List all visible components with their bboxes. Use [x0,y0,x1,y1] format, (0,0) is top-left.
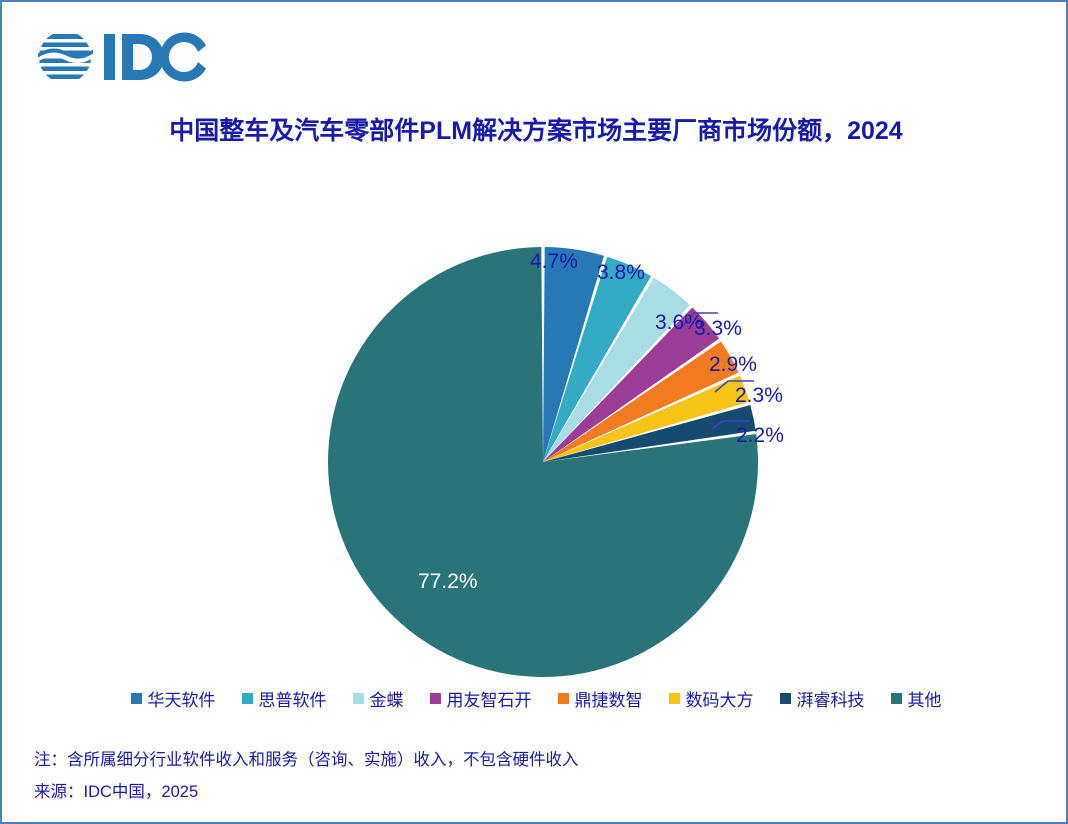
idc-wordmark [104,33,206,82]
legend-item[interactable]: 数码大方 [669,686,754,711]
legend-item-label: 华天软件 [148,686,216,711]
legend-item-label: 数码大方 [686,686,754,711]
chart-legend: 华天软件思普软件金蝶用友智石开鼎捷数智数码大方湃睿科技其他 [2,686,1068,711]
pie-slice-value-label: 2.2% [736,424,784,448]
footnote-note: 注：含所属细分行业软件收入和服务（咨询、实施）收入，不包含硬件收入 [34,744,1024,776]
legend-item[interactable]: 金蝶 [353,686,404,711]
legend-item[interactable]: 用友智石开 [430,686,532,711]
legend-item[interactable]: 华天软件 [131,686,216,711]
legend-swatch-icon [780,693,791,704]
pie-chart: 4.7%3.8%3.6%3.3%2.9%2.3%2.2%77.2% [2,217,1068,677]
idc-logo [34,26,214,88]
legend-item-label: 用友智石开 [447,686,532,711]
pie-slice-value-label: 3.3% [694,317,742,341]
legend-item-label: 金蝶 [370,686,404,711]
legend-item-label: 其他 [908,686,942,711]
legend-swatch-icon [353,693,364,704]
pie-slice-value-label: 4.7% [530,250,578,274]
footnote-source: 来源：IDC中国，2025 [34,776,1024,808]
pie-slice-value-label: 3.8% [597,261,645,285]
legend-item[interactable]: 湃睿科技 [780,686,865,711]
idc-globe-icon [36,34,94,79]
idc-logo-svg [34,26,214,88]
pie-chart-svg [2,217,1068,677]
legend-swatch-icon [430,693,441,704]
legend-swatch-icon [891,693,902,704]
legend-swatch-icon [669,693,680,704]
legend-item-label: 思普软件 [259,686,327,711]
page-title: 中国整车及汽车零部件PLM解决方案市场主要厂商市场份额，2024 [86,114,986,150]
legend-item[interactable]: 其他 [891,686,942,711]
footnotes: 注：含所属细分行业软件收入和服务（咨询、实施）收入，不包含硬件收入 来源：IDC… [34,744,1024,808]
pie-slice-value-label: 2.9% [709,353,757,377]
pie-slice-value-label: 2.3% [735,384,783,408]
legend-swatch-icon [558,693,569,704]
legend-item[interactable]: 鼎捷数智 [558,686,643,711]
legend-swatch-icon [131,693,142,704]
legend-item-label: 湃睿科技 [797,686,865,711]
pie-slice-value-label: 77.2% [418,570,478,594]
legend-item-label: 鼎捷数智 [575,686,643,711]
legend-swatch-icon [242,693,253,704]
chart-page: 中国整车及汽车零部件PLM解决方案市场主要厂商市场份额，2024 4.7%3.8… [0,0,1068,824]
legend-item[interactable]: 思普软件 [242,686,327,711]
